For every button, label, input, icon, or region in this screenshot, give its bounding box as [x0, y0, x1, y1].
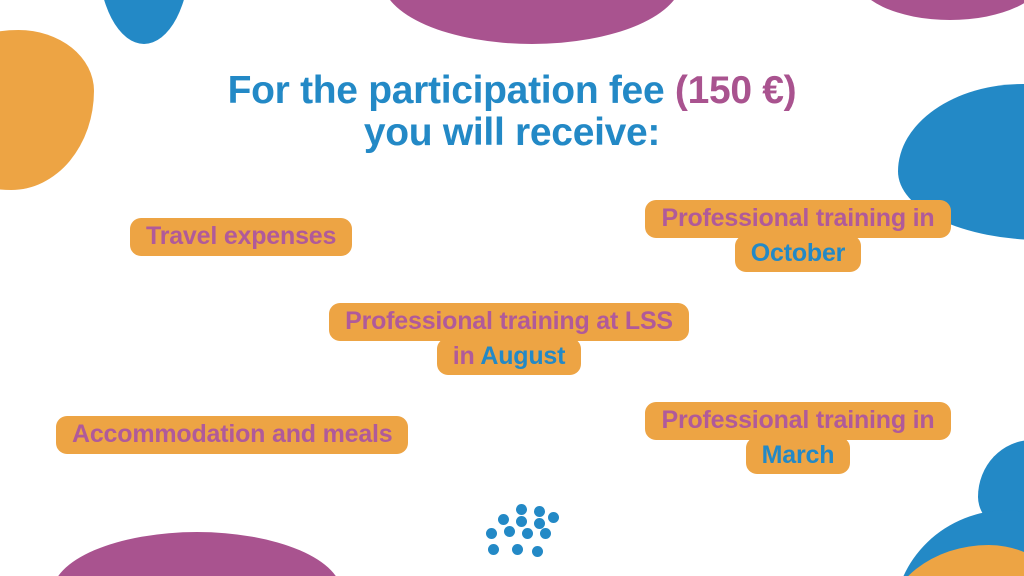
benefit-line: Professional training in	[645, 200, 950, 238]
dot	[540, 528, 551, 539]
benefit-accent-text: October	[751, 239, 845, 267]
benefit-professional-training-march: Professional training in March	[628, 402, 968, 474]
benefit-travel-expenses: Travel expenses	[130, 218, 352, 256]
dot	[504, 526, 515, 537]
benefit-line: in August	[437, 338, 582, 376]
benefit-professional-training-october: Professional training in October	[628, 200, 968, 272]
dot	[488, 544, 499, 555]
purple-ellipse-bottom-left-shape	[52, 532, 342, 576]
benefit-accent-text: March	[762, 441, 835, 469]
dot	[516, 504, 527, 515]
benefit-text: in	[453, 342, 481, 370]
benefit-line: March	[746, 437, 851, 475]
blue-blob-bottom-right-shape	[894, 510, 1024, 576]
blue-semicircle-top-shape	[98, 0, 190, 44]
benefit-accent-text: August	[480, 342, 565, 370]
orange-blob-bottom-right-shape	[886, 545, 1024, 576]
benefit-line: Travel expenses	[130, 218, 352, 256]
benefit-text: Accommodation and meals	[72, 420, 392, 448]
slide-title-line2: you will receive:	[364, 111, 660, 154]
dot	[516, 516, 527, 527]
slide-title: For the participation fee (150 €) you wi…	[0, 70, 1024, 154]
dot	[532, 546, 543, 557]
dot	[522, 528, 533, 539]
benefit-text: Professional training at LSS	[345, 307, 673, 335]
benefit-text: Professional training in	[661, 406, 934, 434]
benefit-accommodation-and-meals: Accommodation and meals	[56, 416, 408, 454]
purple-sliver-top-right-shape	[855, 0, 1024, 20]
dot	[498, 514, 509, 525]
benefit-text: Professional training in	[661, 204, 934, 232]
slide-title-fee: (150 €)	[675, 69, 796, 112]
dot	[486, 528, 497, 539]
blue-dot-cluster	[486, 504, 560, 562]
dot	[512, 544, 523, 555]
dot	[534, 506, 545, 517]
benefit-professional-training-lss-august: Professional training at LSS in August	[304, 303, 714, 375]
benefit-text: Travel expenses	[146, 222, 336, 250]
benefit-line: Accommodation and meals	[56, 416, 408, 454]
benefit-line: October	[735, 235, 861, 273]
blue-blob-bottom-right-upper-shape	[978, 440, 1024, 540]
dot	[548, 512, 559, 523]
slide-title-line1-prefix: For the participation fee	[228, 69, 675, 112]
presentation-slide: For the participation fee (150 €) you wi…	[0, 0, 1024, 576]
benefit-line: Professional training at LSS	[329, 303, 689, 341]
benefit-line: Professional training in	[645, 402, 950, 440]
purple-ellipse-top-shape	[382, 0, 682, 44]
